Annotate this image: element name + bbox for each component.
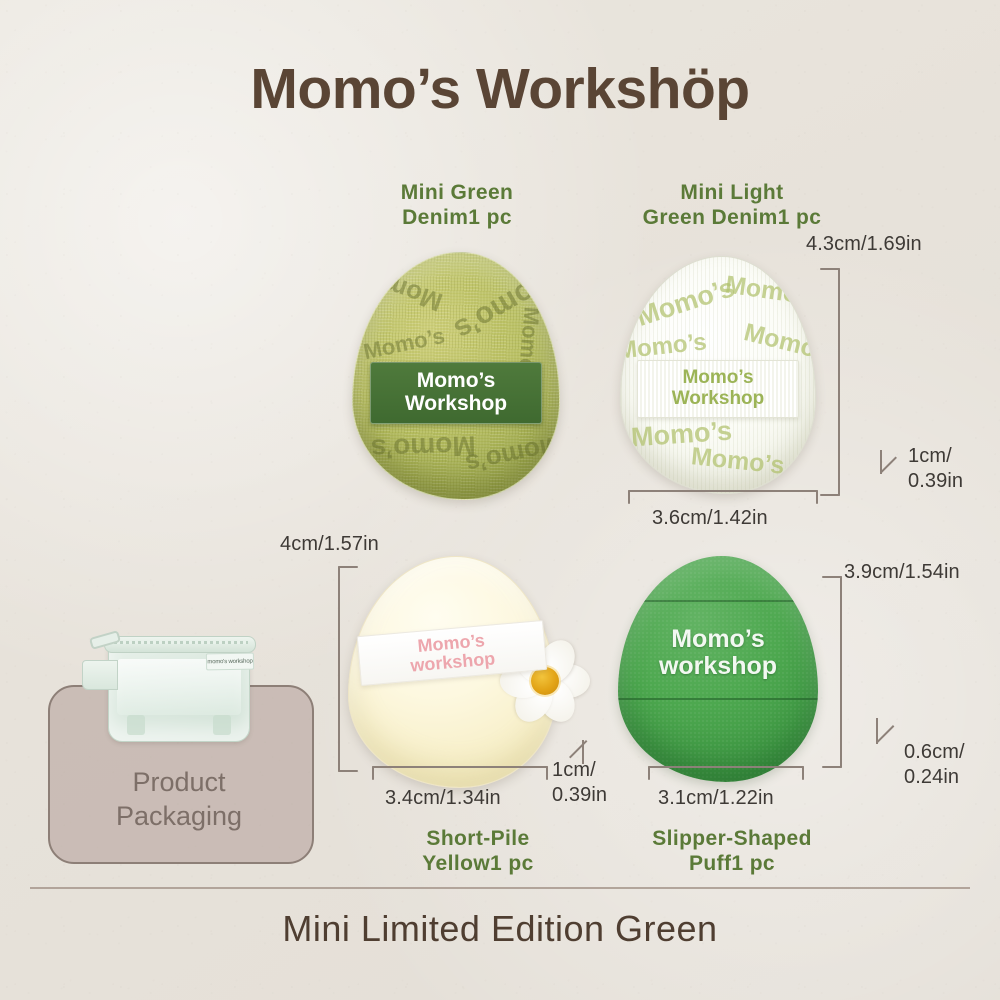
product-image-mini-green-denim: Momo’s Momo’s Momo’s Momo’s Momo’s Momo’… xyxy=(352,252,560,500)
dimension-line1: 1cm/ xyxy=(908,444,963,469)
watermark-text: Momo’s xyxy=(463,429,560,480)
watermark-text: Momo’s xyxy=(633,272,739,333)
product-image-short-pile-yellow: Momo’s workshop xyxy=(348,556,556,788)
brand-ribbon-label: Momo’s Workshop xyxy=(637,360,799,418)
brand-line1: Momo’s xyxy=(671,626,765,653)
dimension-yellow-width: 3.4cm/1.34in xyxy=(385,786,501,811)
product-label-short-pile-yellow: Short-Pile Yellow1 pc xyxy=(368,826,588,876)
brand-line1: Momo’s xyxy=(417,370,496,393)
dimension-yellow-height: 4cm/1.57in xyxy=(280,532,379,557)
product-label-mini-light-green-denim: Mini Light Green Denim1 pc xyxy=(608,180,856,230)
brand-line1: Momo’s xyxy=(682,368,753,389)
product-label-line2: Green Denim1 pc xyxy=(608,205,856,230)
pouch-zipper-track xyxy=(104,636,256,653)
packaging-pouch-image: momo's workshop xyxy=(78,622,268,742)
dimension-bracket-yellow-width xyxy=(372,766,548,782)
dimension-green-height: 3.9cm/1.54in xyxy=(844,560,960,585)
dimension-light-green-height: 4.3cm/1.69in xyxy=(806,232,922,257)
brand-line2: Workshop xyxy=(672,389,765,410)
watermark-text: Momo’s xyxy=(361,323,447,366)
product-label-line1: Mini Light xyxy=(608,180,856,205)
brand-line2: Workshop xyxy=(405,393,507,416)
pouch-wrist-strap xyxy=(82,660,118,690)
dimension-yellow-thickness: 1cm/ 0.39in xyxy=(552,758,607,808)
dimension-line2: 0.39in xyxy=(552,783,607,808)
dimension-green-width: 3.1cm/1.22in xyxy=(658,786,774,811)
pouch-corner-patch xyxy=(213,715,231,735)
brand-ribbon-label: Momo’s Workshop xyxy=(370,362,542,424)
product-label-line2: Yellow1 pc xyxy=(368,851,588,876)
packaging-label-line2: Packaging xyxy=(48,799,310,833)
packaging-label-line1: Product xyxy=(48,765,310,799)
dimension-line1: 1cm/ xyxy=(552,758,607,783)
page-title: Momo’s Workshöp xyxy=(0,56,1000,122)
product-image-slipper-shaped-puff: Momo’s workshop xyxy=(618,556,818,782)
product-label-line1: Short-Pile xyxy=(368,826,588,851)
product-label-line1: Slipper-Shaped xyxy=(612,826,852,851)
product-label-line1: Mini Green xyxy=(352,180,562,205)
watermark-text: Momo’s xyxy=(370,429,476,465)
dimension-green-thickness: 0.6cm/ 0.24in xyxy=(904,740,965,790)
dimension-bracket-light-green-width xyxy=(628,490,818,506)
dimension-bracket-green-height xyxy=(822,576,844,768)
dimension-light-green-thickness: 1cm/ 0.39in xyxy=(908,444,963,494)
infographic-canvas: Momo’s Workshöp Mini Green Denim1 pc Min… xyxy=(0,0,1000,1000)
footer-divider xyxy=(30,887,970,889)
product-label-mini-green-denim: Mini Green Denim1 pc xyxy=(352,180,562,230)
dimension-bracket-light-green-height xyxy=(820,268,842,496)
product-packaging-label: Product Packaging xyxy=(48,765,310,833)
dimension-line2: 0.39in xyxy=(908,469,963,494)
dimension-bracket-green-width xyxy=(648,766,804,782)
watermark-text: Momo’s xyxy=(723,271,816,313)
product-label-line2: Puff1 pc xyxy=(612,851,852,876)
watermark-text: Momo’s xyxy=(448,261,560,347)
brand-line2: workshop xyxy=(659,653,777,680)
pouch-corner-patch xyxy=(127,715,145,735)
pouch-brand-tag: momo's workshop xyxy=(206,653,254,671)
flower-center xyxy=(531,667,559,695)
pouch-zipper-teeth xyxy=(108,641,248,644)
brand-printed-label: Momo’s workshop xyxy=(628,618,808,688)
dimension-light-green-width: 3.6cm/1.42in xyxy=(652,506,768,531)
dimension-bracket-yellow-height xyxy=(338,566,360,772)
product-image-mini-light-green-denim: Momo’s Momo’s Momo’s Momo’s Momo’s Momo’… xyxy=(620,256,816,494)
product-label-line2: Denim1 pc xyxy=(352,205,562,230)
dimension-line2: 0.24in xyxy=(904,765,965,790)
watermark-text: Momo’s xyxy=(690,442,786,481)
product-label-slipper-shaped-puff: Slipper-Shaped Puff1 pc xyxy=(612,826,852,876)
watermark-text: Momo’s xyxy=(352,255,447,317)
dimension-line1: 0.6cm/ xyxy=(904,740,965,765)
footer-title: Mini Limited Edition Green xyxy=(0,908,1000,950)
